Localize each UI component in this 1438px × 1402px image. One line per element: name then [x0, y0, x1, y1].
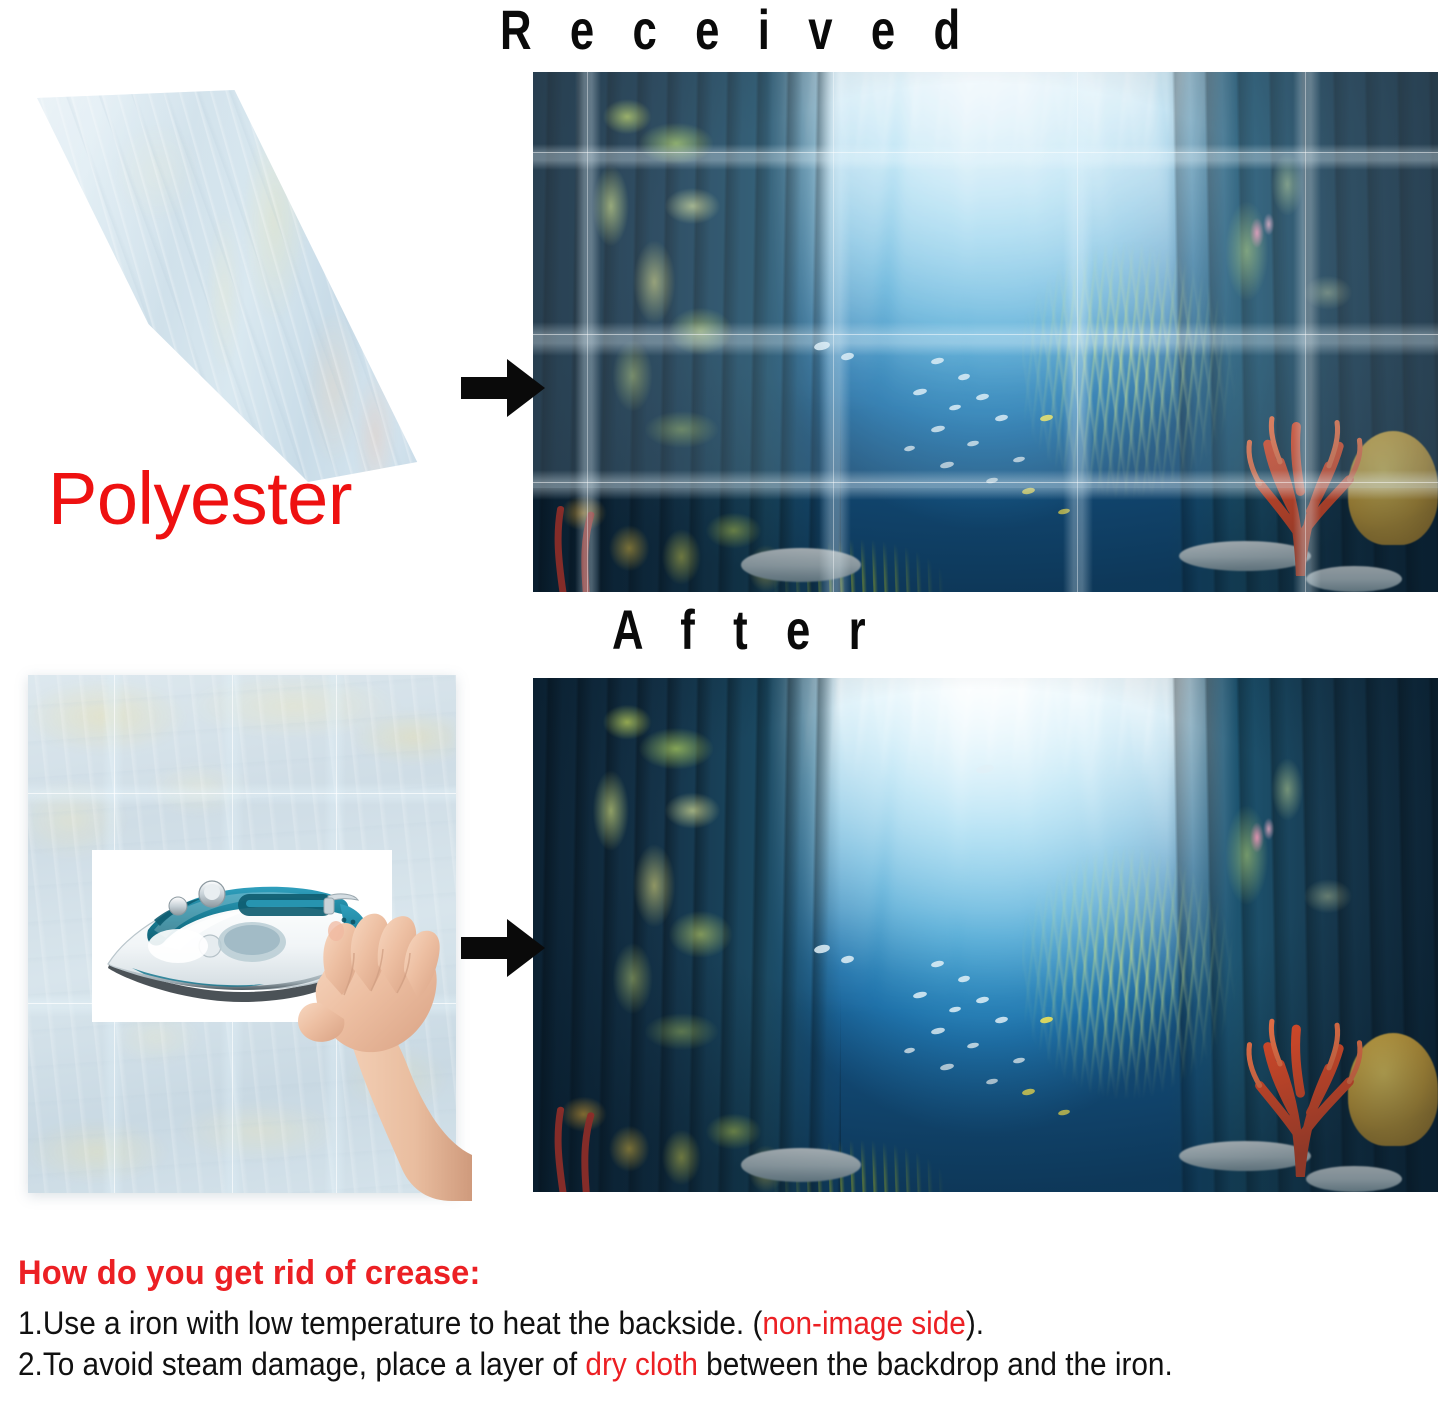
image-vignette	[533, 678, 1438, 1192]
step-1-text-after: ).	[966, 1305, 984, 1341]
polyester-material-label: Polyester	[48, 462, 352, 536]
after-backdrop-image	[533, 678, 1438, 1192]
received-heading: R e c e i v e d	[500, 2, 973, 58]
after-heading: A f t e r	[612, 602, 879, 658]
image-vignette	[533, 72, 1438, 592]
folded-polyester-swatch	[14, 84, 434, 484]
step-2-number: 2.	[18, 1346, 43, 1382]
instruction-step-2: 2.To avoid steam damage, place a layer o…	[18, 1345, 1329, 1385]
instruction-step-1: 1.Use a iron with low temperature to hea…	[18, 1304, 1329, 1344]
received-backdrop-image	[533, 72, 1438, 592]
instruction-graphic: R e c e i v e d Polyester	[0, 0, 1438, 1402]
step-1-number: 1.	[18, 1305, 43, 1341]
hand-icon	[286, 905, 476, 1210]
step-2-text-before: To avoid steam damage, place a layer of	[43, 1346, 586, 1382]
step-1-highlight: non-image side	[762, 1305, 965, 1341]
step-1-text-before: Use a iron with low temperature to heat …	[43, 1305, 763, 1341]
right-arrow-icon	[459, 355, 547, 426]
step-2-highlight: dry cloth	[585, 1346, 697, 1382]
right-arrow-icon	[459, 915, 547, 986]
step-2-text-after: between the backdrop and the iron.	[698, 1346, 1173, 1382]
instructions-block: How do you get rid of crease: 1.Use a ir…	[18, 1256, 1428, 1387]
fabric-fiber-texture	[14, 84, 434, 484]
instructions-title: How do you get rid of crease:	[18, 1256, 1372, 1292]
